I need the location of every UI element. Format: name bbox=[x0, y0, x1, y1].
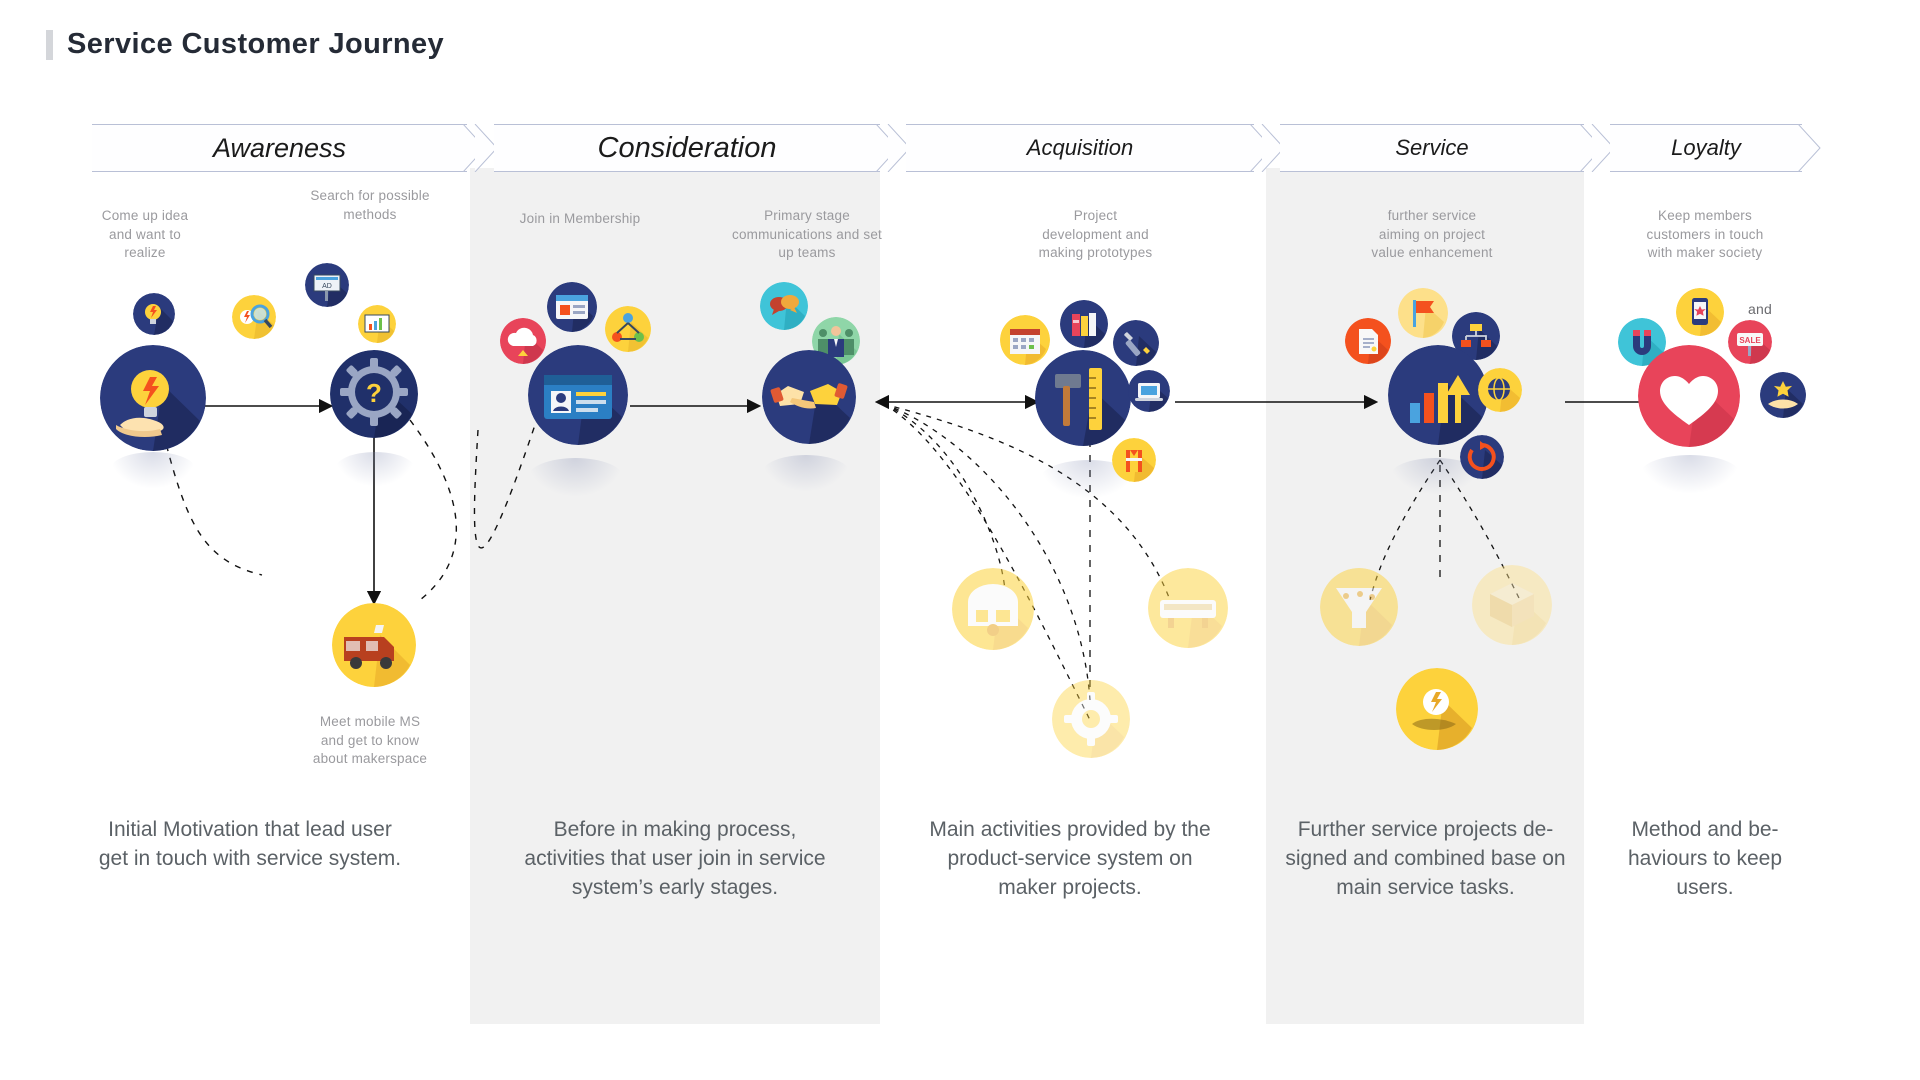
caption-line: Come up idea bbox=[92, 207, 198, 226]
description-line: users. bbox=[1605, 873, 1805, 902]
community-network-icon[interactable] bbox=[605, 306, 651, 352]
svg-text:?: ? bbox=[366, 378, 382, 408]
stage-banner-loyalty[interactable]: Loyalty bbox=[1610, 124, 1802, 172]
caption-line: methods bbox=[290, 206, 450, 225]
journey-map-canvas: Service Customer Journey Awareness Consi… bbox=[0, 0, 1920, 1080]
sales-funnel-icon[interactable] bbox=[1320, 568, 1398, 646]
hammer-ruler-tools-icon[interactable] bbox=[1035, 350, 1131, 446]
title-accent-bar bbox=[46, 30, 53, 60]
caption-line: Keep members bbox=[1625, 207, 1785, 226]
document-report-icon[interactable] bbox=[1345, 318, 1391, 364]
mobile-loyalty-app-icon[interactable] bbox=[1676, 288, 1724, 336]
svg-text:SALE: SALE bbox=[1739, 336, 1761, 345]
caption-line: development and bbox=[1013, 226, 1178, 245]
stage-banner-acquisition[interactable]: Acquisition bbox=[906, 124, 1254, 172]
description-service: Further service projects de- signed and … bbox=[1268, 815, 1583, 902]
stage-label-awareness: Awareness bbox=[213, 133, 346, 164]
stage-divider-2 bbox=[876, 124, 910, 172]
stage-divider-4 bbox=[1580, 124, 1614, 172]
caption-line: Project bbox=[1013, 207, 1178, 226]
description-awareness: Initial Motivation that lead user get in… bbox=[80, 815, 420, 873]
heart-loyalty-icon[interactable] bbox=[1638, 345, 1740, 447]
calendar-schedule-icon[interactable] bbox=[1000, 315, 1050, 365]
description-line: Before in making process, bbox=[500, 815, 850, 844]
caption-line: realize bbox=[92, 244, 198, 263]
question-gear-icon[interactable]: ? bbox=[330, 350, 418, 438]
page-header: Service Customer Journey bbox=[46, 28, 444, 61]
reflection bbox=[1640, 455, 1740, 493]
loyalty-and-label: and bbox=[1740, 300, 1780, 319]
description-line: main service tasks. bbox=[1268, 873, 1583, 902]
caption-acquisition-project: Project development and making prototype… bbox=[1013, 207, 1178, 263]
caption-line: further service bbox=[1352, 207, 1512, 226]
description-line: signed and combined base on bbox=[1268, 844, 1583, 873]
stage-banner-service[interactable]: Service bbox=[1280, 124, 1584, 172]
caption-service-further: further service aiming on project value … bbox=[1352, 207, 1512, 263]
description-line: maker projects. bbox=[905, 873, 1235, 902]
description-line: Main activities provided by the bbox=[905, 815, 1235, 844]
caption-line: communications and set bbox=[712, 226, 902, 245]
caption-awareness-mobile: Meet mobile MS and get to know about mak… bbox=[290, 713, 450, 769]
caption-consideration-primary: Primary stage communications and set up … bbox=[712, 207, 902, 263]
caption-loyalty-keep: Keep members customers in touch with mak… bbox=[1625, 207, 1785, 263]
description-consideration: Before in making process, activities tha… bbox=[500, 815, 850, 902]
description-line: Method and be- bbox=[1605, 815, 1805, 844]
stage-end-arrow bbox=[1798, 124, 1832, 172]
description-line: product-service system on bbox=[905, 844, 1235, 873]
stage-label-consideration: Consideration bbox=[598, 132, 777, 165]
lightbulb-in-hand-icon[interactable] bbox=[100, 345, 206, 451]
caption-line: value enhancement bbox=[1352, 244, 1512, 263]
caption-line: Join in Membership bbox=[500, 210, 660, 229]
wrench-spanner-icon[interactable] bbox=[1113, 320, 1159, 366]
machine-settings-icon[interactable] bbox=[1052, 680, 1130, 758]
growth-bar-chart-icon[interactable] bbox=[1388, 345, 1488, 445]
handshake-icon[interactable] bbox=[762, 350, 856, 444]
safety-vest-icon[interactable] bbox=[1112, 438, 1156, 482]
caption-line: making prototypes bbox=[1013, 244, 1178, 263]
stage-label-acquisition: Acquisition bbox=[1027, 135, 1133, 161]
laser-cutter-icon[interactable] bbox=[1148, 568, 1228, 648]
global-network-icon[interactable] bbox=[1478, 368, 1522, 412]
caption-line: up teams bbox=[712, 244, 902, 263]
caption-line: with maker society bbox=[1625, 244, 1785, 263]
stage-divider-3 bbox=[1250, 124, 1284, 172]
description-line: haviours to keep bbox=[1605, 844, 1805, 873]
membership-card-icon[interactable] bbox=[528, 345, 628, 445]
caption-awareness-idea: Come up idea and want to realize bbox=[92, 207, 198, 263]
description-line: Further service projects de- bbox=[1268, 815, 1583, 844]
caption-line: and get to know bbox=[290, 732, 450, 751]
presentation-chart-icon[interactable] bbox=[358, 305, 396, 343]
and-text: and bbox=[1740, 300, 1780, 319]
idea-bulb-icon[interactable] bbox=[133, 293, 175, 335]
stage-banner-awareness[interactable]: Awareness bbox=[92, 124, 467, 172]
registration-form-icon[interactable] bbox=[547, 282, 597, 332]
idea-handoff-icon[interactable] bbox=[1396, 668, 1478, 750]
mobile-makerspace-van-icon[interactable] bbox=[332, 603, 416, 687]
caption-awareness-search: Search for possible methods bbox=[290, 187, 450, 224]
reflection bbox=[762, 455, 850, 491]
caption-line: about makerspace bbox=[290, 750, 450, 769]
milestone-flag-icon[interactable] bbox=[1398, 288, 1448, 338]
description-line: activities that user join in service bbox=[500, 844, 850, 873]
3d-printer-icon[interactable] bbox=[952, 568, 1034, 650]
stage-label-service: Service bbox=[1395, 135, 1468, 161]
advertising-board-icon[interactable]: AD bbox=[305, 263, 349, 307]
stage-banner-consideration[interactable]: Consideration bbox=[494, 124, 880, 172]
description-line: Initial Motivation that lead user bbox=[80, 815, 420, 844]
caption-line: aiming on project bbox=[1352, 226, 1512, 245]
caption-line: customers in touch bbox=[1625, 226, 1785, 245]
sale-sign-icon[interactable]: SALE bbox=[1728, 320, 1772, 364]
description-line: system’s early stages. bbox=[500, 873, 850, 902]
cloud-upload-icon[interactable] bbox=[500, 318, 546, 364]
reflection bbox=[335, 452, 415, 486]
description-acquisition: Main activities provided by the product-… bbox=[905, 815, 1235, 902]
search-idea-icon[interactable] bbox=[232, 295, 276, 339]
svg-text:AD: AD bbox=[322, 283, 332, 290]
caption-consideration-membership: Join in Membership bbox=[500, 210, 660, 229]
caption-line: and want to bbox=[92, 226, 198, 245]
refresh-cycle-icon[interactable] bbox=[1460, 435, 1504, 479]
reflection bbox=[110, 452, 196, 488]
stage-label-loyalty: Loyalty bbox=[1671, 135, 1741, 161]
page-title: Service Customer Journey bbox=[67, 28, 444, 61]
caption-line: Meet mobile MS bbox=[290, 713, 450, 732]
description-loyalty: Method and be- haviours to keep users. bbox=[1605, 815, 1805, 902]
stage-divider-1 bbox=[463, 124, 497, 172]
caption-line: Search for possible bbox=[290, 187, 450, 206]
caption-line: Primary stage bbox=[712, 207, 902, 226]
reflection bbox=[528, 458, 623, 496]
chat-bubbles-icon[interactable] bbox=[760, 282, 808, 330]
star-reward-hand-icon[interactable] bbox=[1760, 372, 1806, 418]
books-materials-icon[interactable] bbox=[1060, 300, 1108, 348]
description-line: get in touch with service system. bbox=[80, 844, 420, 873]
laptop-design-icon[interactable] bbox=[1128, 370, 1170, 412]
product-box-icon[interactable] bbox=[1472, 565, 1552, 645]
